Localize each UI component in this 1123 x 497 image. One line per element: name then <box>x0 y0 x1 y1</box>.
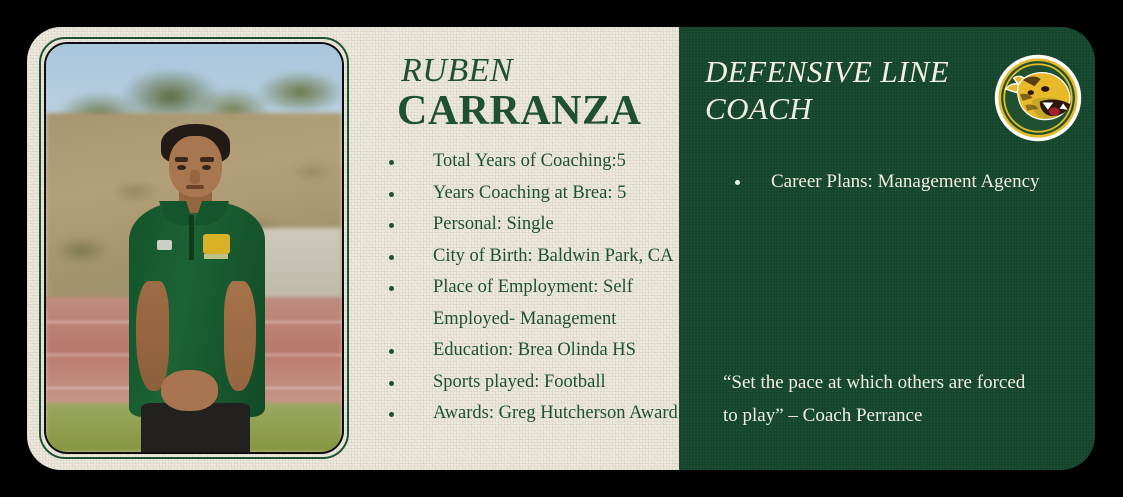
list-item: Career Plans: Management Agency <box>715 165 1061 198</box>
list-item: Place of Employment: Self Employed- Mana… <box>383 272 700 335</box>
person-nose <box>190 170 200 183</box>
shirt-brand-logo <box>157 240 172 251</box>
person-eyebrow-left <box>175 157 189 162</box>
shirt-team-logo <box>203 234 230 254</box>
right-role-panel: DEFENSIVE LINE COACH <box>679 27 1095 470</box>
list-item: City of Birth: Baldwin Park, CA <box>383 241 700 273</box>
coach-last-name: CARRANZA <box>397 90 700 132</box>
coach-role-title: DEFENSIVE LINE COACH <box>705 53 970 127</box>
screenshot-stage: RUBEN CARRANZA Total Years of Coaching:5… <box>0 0 1123 497</box>
person-placket <box>189 215 194 260</box>
list-item: Personal: Single <box>383 209 700 241</box>
left-info-panel: RUBEN CARRANZA Total Years of Coaching:5… <box>27 27 679 470</box>
coach-photo-frame <box>39 37 349 459</box>
list-item: Sports played: Football <box>383 367 700 399</box>
shirt-team-logo-text <box>204 254 228 259</box>
list-item: Education: Brea Olinda HS <box>383 335 700 367</box>
list-item: Awards: Greg Hutcherson Award <box>383 398 700 430</box>
list-item: Total Years of Coaching:5 <box>383 146 700 178</box>
coach-quote: “Set the pace at which others are forced… <box>723 366 1038 432</box>
coach-details: RUBEN CARRANZA Total Years of Coaching:5… <box>367 27 700 470</box>
wildcat-logo-icon <box>993 53 1083 143</box>
photo-person <box>46 44 342 452</box>
coach-photo <box>46 44 342 452</box>
career-plans-list: Career Plans: Management Agency <box>705 165 1061 198</box>
coach-profile-card: RUBEN CARRANZA Total Years of Coaching:5… <box>27 27 1095 470</box>
person-mouth <box>186 185 204 189</box>
person-arm-right <box>224 281 257 391</box>
person-arm-left <box>136 281 169 391</box>
coach-facts-list: Total Years of Coaching:5 Years Coaching… <box>367 146 700 430</box>
person-eyebrow-right <box>200 157 214 162</box>
list-item: Years Coaching at Brea: 5 <box>383 178 700 210</box>
coach-first-name: RUBEN <box>401 54 700 88</box>
person-hands <box>161 370 217 411</box>
